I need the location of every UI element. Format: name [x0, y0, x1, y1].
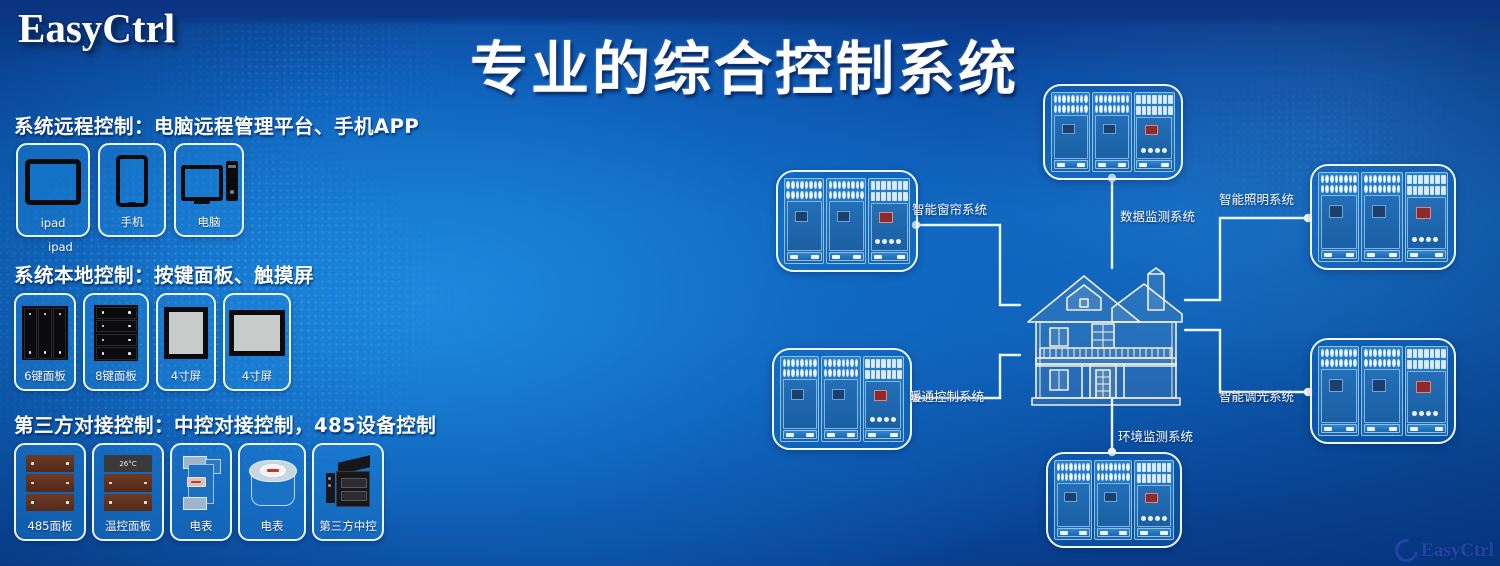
remote-control-card-row: ipad 手机 电脑: [16, 143, 244, 237]
device-card-caption: 4寸屏: [242, 368, 272, 384]
device-card-computer[interactable]: 电脑: [174, 143, 244, 237]
device-card-ipad[interactable]: ipad: [16, 143, 90, 237]
eight-key-panel-icon: [94, 302, 138, 364]
node-label-smart-curtain: 智能窗帘系统: [912, 199, 987, 218]
device-box-smart-dimming[interactable]: [1310, 338, 1456, 444]
touchscreen-landscape-icon: [229, 302, 285, 364]
node-label-environment-monitoring: 环境监测系统: [1118, 426, 1193, 445]
rs485-panel-icon: [26, 452, 74, 514]
six-key-panel-icon: [22, 302, 68, 364]
villa-house-icon: [1012, 258, 1192, 406]
device-card-third-party-controller[interactable]: 第三方中控: [312, 443, 384, 541]
device-card-caption: 4寸屏: [171, 368, 201, 384]
poster-canvas: EasyCtrl 专业的综合控制系统 系统远程控制：电脑远程管理平台、手机APP…: [0, 0, 1500, 566]
third-party-controller-icon: [324, 452, 372, 514]
device-card-caption: 电脑: [198, 214, 221, 230]
touchscreen-portrait-icon: [164, 302, 208, 364]
device-box-environment-monitoring[interactable]: [1046, 452, 1182, 548]
ipad-sublabel: ipad: [48, 240, 73, 254]
device-box-smart-lighting[interactable]: [1310, 164, 1456, 270]
device-card-caption: 6键面板: [24, 368, 66, 384]
page-title: 专业的综合控制系统: [470, 22, 1019, 106]
device-card-round-meter[interactable]: 电表: [238, 443, 306, 541]
device-box-data-monitoring[interactable]: [1043, 84, 1183, 180]
thermostat-display-value: 26°C: [119, 460, 136, 468]
node-label-hvac-control: 暖通控制系统: [909, 386, 984, 405]
device-box-smart-curtain[interactable]: [776, 170, 918, 272]
device-card-rs485-panel[interactable]: 485面板: [14, 443, 86, 541]
node-label-data-monitoring: 数据监测系统: [1120, 206, 1195, 225]
device-card-caption: 温控面板: [105, 518, 151, 534]
device-card-touchscreen-landscape[interactable]: 4寸屏: [223, 293, 291, 391]
device-card-caption: ipad: [41, 216, 66, 230]
device-card-six-key-panel[interactable]: 6键面板: [14, 293, 76, 391]
device-card-caption: 8键面板: [95, 368, 137, 384]
brand-logo: EasyCtrl: [18, 4, 175, 52]
desktop-computer-icon: [181, 152, 238, 210]
device-card-caption: 手机: [121, 214, 144, 230]
watermark-e-icon: [1391, 534, 1423, 566]
device-box-hvac-control[interactable]: [772, 348, 912, 450]
section-heading-local-control: 系统本地控制：按键面板、触摸屏: [14, 259, 314, 288]
section-heading-remote-control: 系统远程控制：电脑远程管理平台、手机APP: [14, 110, 419, 139]
watermark-text: EasyCtrl: [1421, 540, 1494, 562]
node-label-smart-lighting: 智能照明系统: [1219, 189, 1294, 208]
device-card-din-meter[interactable]: 电表: [170, 443, 232, 541]
device-card-caption: 第三方中控: [319, 518, 377, 534]
device-card-caption: 电表: [190, 518, 213, 534]
din-meter-icon: [181, 452, 221, 514]
device-card-caption: 电表: [261, 518, 284, 534]
third-party-card-row: 485面板 26°C 温控面板 电表 电表: [14, 443, 384, 541]
section-heading-third-party-control: 第三方对接控制：中控对接控制，485设备控制: [14, 409, 436, 438]
device-card-touchscreen-portrait[interactable]: 4寸屏: [156, 293, 216, 391]
device-card-caption: 485面板: [28, 518, 73, 534]
device-card-thermostat-panel[interactable]: 26°C 温控面板: [92, 443, 164, 541]
tablet-icon: [25, 152, 81, 212]
round-meter-icon: [249, 452, 295, 514]
watermark-logo: EasyCtrl: [1395, 539, 1494, 562]
device-card-eight-key-panel[interactable]: 8键面板: [83, 293, 149, 391]
node-label-smart-dimming: 智能调光系统: [1219, 386, 1294, 405]
thermostat-panel-icon: 26°C: [104, 452, 152, 514]
local-control-card-row: 6键面板 8键面板 4寸屏 4寸屏: [14, 293, 291, 391]
device-card-phone[interactable]: 手机: [98, 143, 166, 237]
smartphone-icon: [116, 152, 148, 210]
